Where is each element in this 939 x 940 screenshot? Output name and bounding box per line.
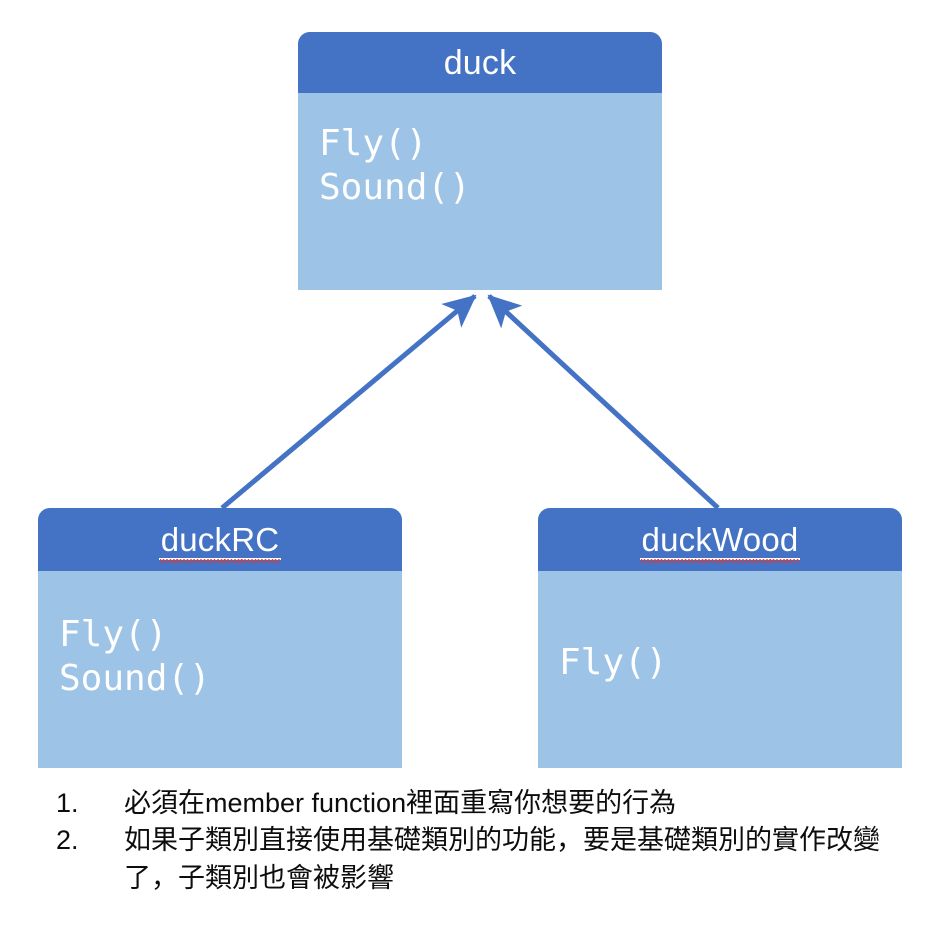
- connector-duckrc-to-duck: [222, 296, 475, 508]
- class-box-duckrc[interactable]: duckRC Fly() Sound(): [38, 508, 402, 768]
- class-title-duckrc: duckRC: [161, 523, 280, 556]
- note-item-1: 1. 必須在member function裡面重寫你想要的行為: [40, 785, 920, 822]
- class-methods-duckwood: Fly(): [538, 571, 902, 685]
- note-item-2: 2. 如果子類別直接使用基礎類別的功能，要是基礎類別的實作改變了，子類別也會被影…: [40, 822, 920, 897]
- class-title-duckwood: duckWood: [642, 523, 799, 556]
- note-text-1: 必須在member function裡面重寫你想要的行為: [124, 785, 920, 822]
- class-header-duck: duck: [298, 32, 662, 93]
- class-box-duckwood[interactable]: duckWood Fly(): [538, 508, 902, 768]
- class-header-duckwood: duckWood: [538, 508, 902, 571]
- class-box-duck[interactable]: duck Fly() Sound(): [298, 32, 662, 290]
- note-text-2: 如果子類別直接使用基礎類別的功能，要是基礎類別的實作改變了，子類別也會被影響: [124, 822, 920, 897]
- class-methods-duckrc: Fly() Sound(): [38, 571, 402, 701]
- class-methods-duck: Fly() Sound(): [298, 93, 662, 210]
- class-title-duck: duck: [444, 46, 517, 80]
- note-number-1: 1.: [40, 785, 124, 822]
- connector-duckwood-to-duck: [489, 296, 718, 508]
- note-number-2: 2.: [40, 822, 124, 859]
- notes-list: 1. 必須在member function裡面重寫你想要的行為 2. 如果子類別…: [40, 785, 920, 897]
- slide-canvas: duck Fly() Sound() duckRC Fly() Sound() …: [0, 0, 939, 940]
- class-header-duckrc: duckRC: [38, 508, 402, 571]
